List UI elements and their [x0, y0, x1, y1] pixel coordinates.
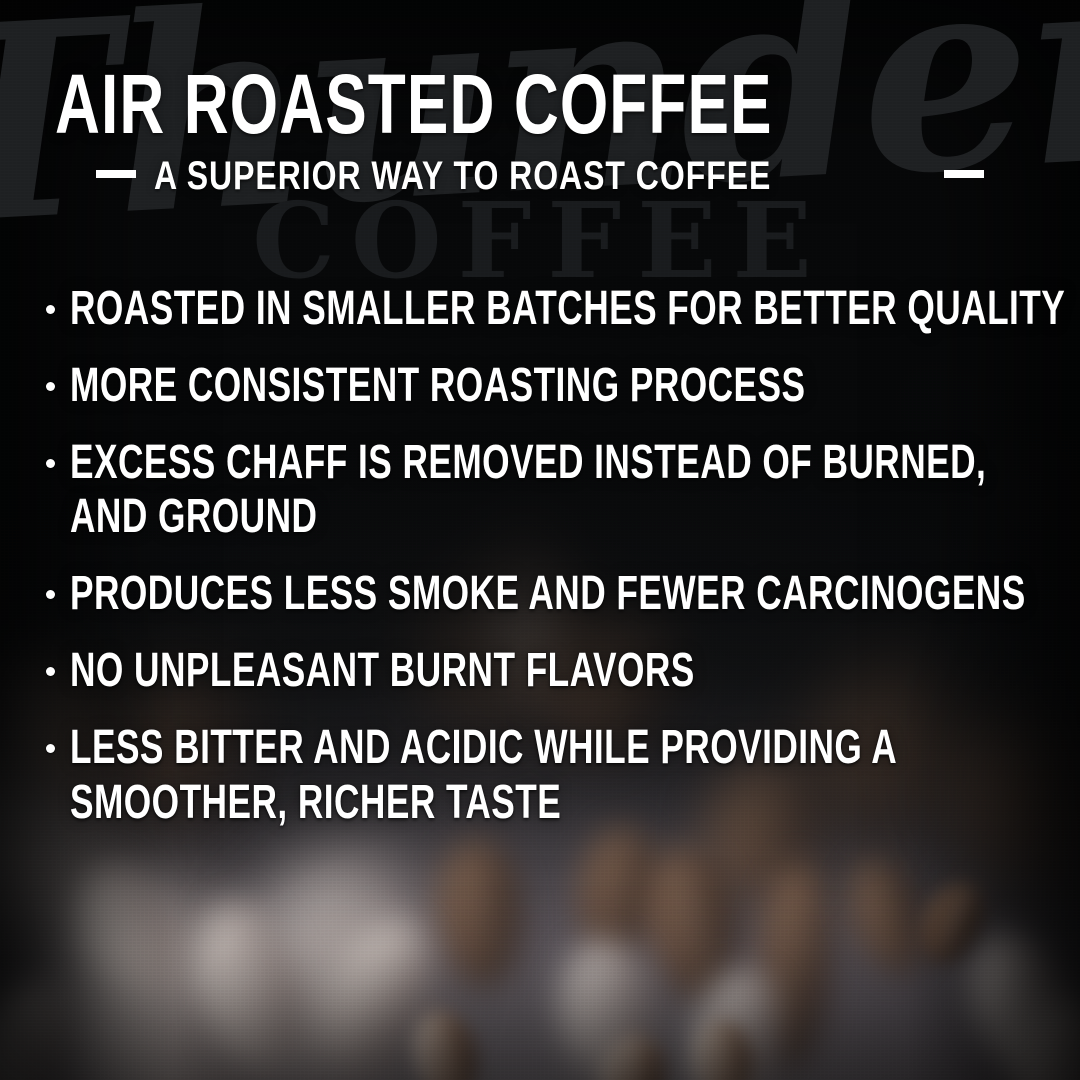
header-block: AIR ROASTED COFFEE A SUPERIOR WAY TO ROA…: [0, 64, 1080, 196]
list-item-line: MORE CONSISTENT ROASTING PROCESS: [70, 360, 1062, 413]
list-item-line: SMOOTHER, RICHER TASTE: [70, 777, 1062, 830]
list-item: MORE CONSISTENT ROASTING PROCESS: [34, 360, 1062, 413]
bullet-dot-icon: [46, 744, 55, 753]
page-subtitle: A SUPERIOR WAY TO ROAST COFFEE: [0, 156, 1080, 196]
bullet-dot-icon: [46, 667, 55, 676]
poster-content: AIR ROASTED COFFEE A SUPERIOR WAY TO ROA…: [0, 0, 1080, 1080]
dash-right-icon: [944, 170, 984, 178]
list-item: NO UNPLEASANT BURNT FLAVORS: [34, 645, 1062, 698]
page-subtitle-text: A SUPERIOR WAY TO ROAST COFFEE: [154, 156, 771, 196]
list-item-line: LESS BITTER AND ACIDIC WHILE PROVIDING A: [70, 722, 1062, 775]
dash-left-icon: [96, 170, 136, 178]
list-item-text: MORE CONSISTENT ROASTING PROCESS: [70, 360, 805, 413]
list-item: EXCESS CHAFF IS REMOVED INSTEAD OF BURNE…: [34, 437, 1062, 545]
list-item-text: ROASTED IN SMALLER BATCHES FOR BETTER QU…: [70, 283, 1065, 336]
list-item-line: AND GROUND: [70, 491, 1062, 544]
list-item-line: ROASTED IN SMALLER BATCHES FOR BETTER QU…: [70, 283, 1062, 336]
benefits-list: ROASTED IN SMALLER BATCHES FOR BETTER QU…: [34, 283, 1062, 829]
list-item-text: SMOOTHER, RICHER TASTE: [70, 777, 561, 830]
bullet-dot-icon: [46, 305, 55, 314]
list-item-text: AND GROUND: [70, 491, 317, 544]
air-roasted-coffee-poster: Thunder COFFEE AIR ROASTED COFFEE A SUPE…: [0, 0, 1080, 1080]
bullet-dot-icon: [46, 590, 55, 599]
bullet-dot-icon: [46, 459, 55, 468]
list-item-text: LESS BITTER AND ACIDIC WHILE PROVIDING A: [70, 722, 897, 775]
list-item-line: EXCESS CHAFF IS REMOVED INSTEAD OF BURNE…: [70, 437, 1062, 490]
list-item-text: PRODUCES LESS SMOKE AND FEWER CARCINOGEN…: [70, 568, 1026, 621]
page-title: AIR ROASTED COFFEE: [0, 64, 1080, 145]
list-item: PRODUCES LESS SMOKE AND FEWER CARCINOGEN…: [34, 568, 1062, 621]
bullet-dot-icon: [46, 382, 55, 391]
list-item-text: NO UNPLEASANT BURNT FLAVORS: [70, 645, 695, 698]
list-item: LESS BITTER AND ACIDIC WHILE PROVIDING A…: [34, 722, 1062, 830]
list-item-line: PRODUCES LESS SMOKE AND FEWER CARCINOGEN…: [70, 568, 1062, 621]
list-item-text: EXCESS CHAFF IS REMOVED INSTEAD OF BURNE…: [70, 437, 986, 490]
list-item-line: NO UNPLEASANT BURNT FLAVORS: [70, 645, 1062, 698]
page-title-text: AIR ROASTED COFFEE: [55, 64, 773, 145]
list-item: ROASTED IN SMALLER BATCHES FOR BETTER QU…: [34, 283, 1062, 336]
